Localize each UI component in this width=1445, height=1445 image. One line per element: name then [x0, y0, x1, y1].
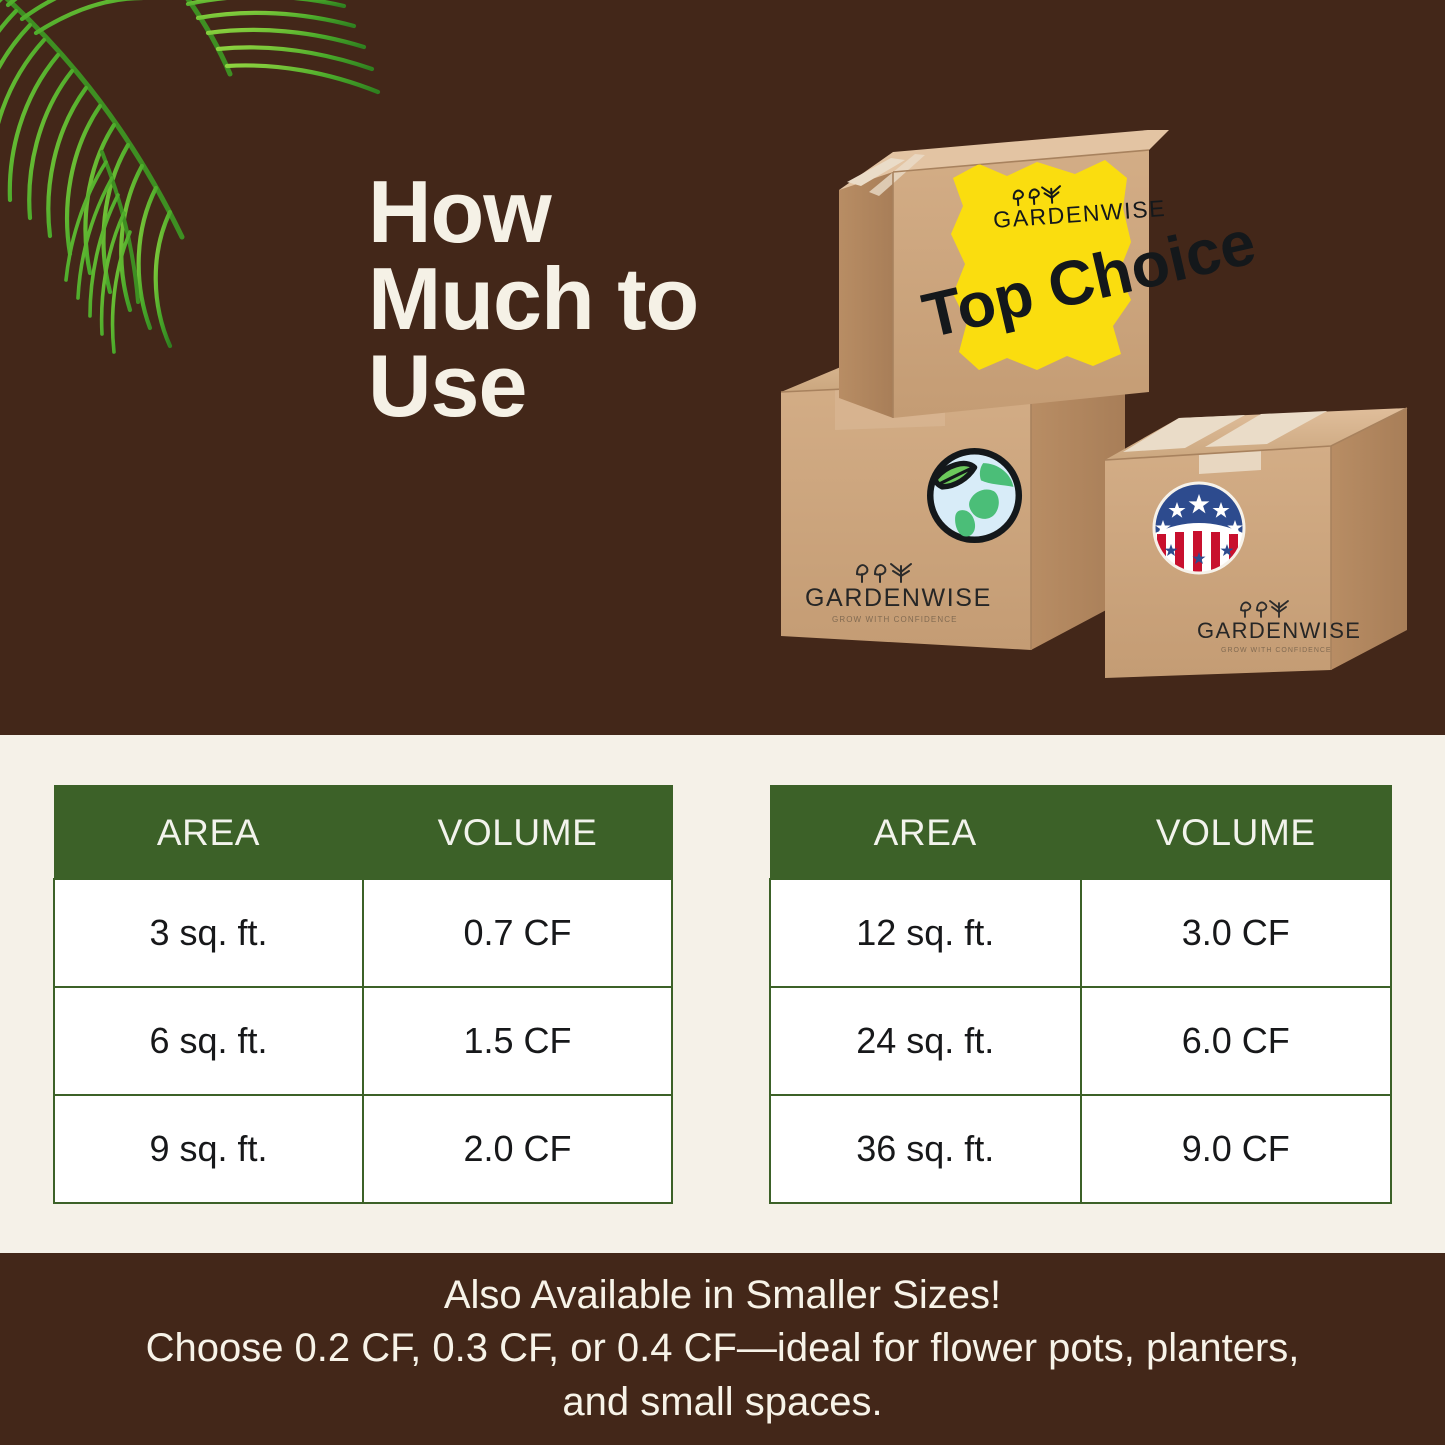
- svg-text:GROW WITH CONFIDENCE: GROW WITH CONFIDENCE: [1221, 647, 1332, 654]
- table-large: AREA VOLUME 12 sq. ft. 3.0 CF 24 sq. ft.…: [769, 785, 1392, 1204]
- cell-area: 12 sq. ft.: [770, 879, 1081, 987]
- col-header-volume: VOLUME: [1081, 786, 1392, 880]
- cell-area: 24 sq. ft.: [770, 987, 1081, 1095]
- col-header-volume: VOLUME: [363, 786, 672, 880]
- cell-area: 36 sq. ft.: [770, 1095, 1081, 1203]
- title-line-3: Use: [368, 342, 788, 429]
- svg-text:GARDENWISE: GARDENWISE: [1197, 618, 1361, 643]
- cell-volume: 3.0 CF: [1081, 879, 1392, 987]
- product-boxes-image: GARDENWISE GROW WITH CONFIDENCE: [775, 130, 1415, 690]
- cell-area: 9 sq. ft.: [54, 1095, 363, 1203]
- cell-volume: 9.0 CF: [1081, 1095, 1392, 1203]
- col-header-area: AREA: [54, 786, 363, 880]
- col-header-area: AREA: [770, 786, 1081, 880]
- cell-area: 3 sq. ft.: [54, 879, 363, 987]
- footer-text: Also Available in Smaller Sizes! Choose …: [33, 1269, 1413, 1429]
- eco-globe-icon: [930, 451, 1019, 540]
- hero-section: How Much to Use: [0, 0, 1445, 735]
- table-row: 36 sq. ft. 9.0 CF: [770, 1095, 1391, 1203]
- page-title: How Much to Use: [368, 168, 788, 429]
- box-right: GARDENWISE GROW WITH CONFIDENCE: [1105, 408, 1407, 678]
- table-row: 6 sq. ft. 1.5 CF: [54, 987, 672, 1095]
- box-top: GARDENWISE Top Choice: [839, 130, 1262, 418]
- cell-volume: 2.0 CF: [363, 1095, 672, 1203]
- table-header-row: AREA VOLUME: [54, 786, 672, 880]
- footer-line-3: and small spaces.: [33, 1376, 1413, 1429]
- usage-tables-section: AREA VOLUME 3 sq. ft. 0.7 CF 6 sq. ft. 1…: [0, 735, 1445, 1253]
- title-line-2: Much to: [368, 255, 788, 342]
- footer-line-2: Choose 0.2 CF, 0.3 CF, or 0.4 CF—ideal f…: [33, 1322, 1413, 1375]
- footer-section: Also Available in Smaller Sizes! Choose …: [0, 1253, 1445, 1445]
- table-row: 3 sq. ft. 0.7 CF: [54, 879, 672, 987]
- footer-line-1: Also Available in Smaller Sizes!: [33, 1269, 1413, 1322]
- table-small: AREA VOLUME 3 sq. ft. 0.7 CF 6 sq. ft. 1…: [53, 785, 673, 1204]
- table-header-row: AREA VOLUME: [770, 786, 1391, 880]
- svg-text:GROW WITH CONFIDENCE: GROW WITH CONFIDENCE: [832, 615, 958, 624]
- cell-area: 6 sq. ft.: [54, 987, 363, 1095]
- table-row: 9 sq. ft. 2.0 CF: [54, 1095, 672, 1203]
- table-row: 12 sq. ft. 3.0 CF: [770, 879, 1391, 987]
- cell-volume: 1.5 CF: [363, 987, 672, 1095]
- svg-text:GARDENWISE: GARDENWISE: [805, 584, 992, 612]
- table-row: 24 sq. ft. 6.0 CF: [770, 987, 1391, 1095]
- title-line-1: How: [368, 168, 788, 255]
- palm-fronds-icon: [0, 0, 402, 362]
- cell-volume: 6.0 CF: [1081, 987, 1392, 1095]
- cell-volume: 0.7 CF: [363, 879, 672, 987]
- infographic-page: How Much to Use: [0, 0, 1445, 1445]
